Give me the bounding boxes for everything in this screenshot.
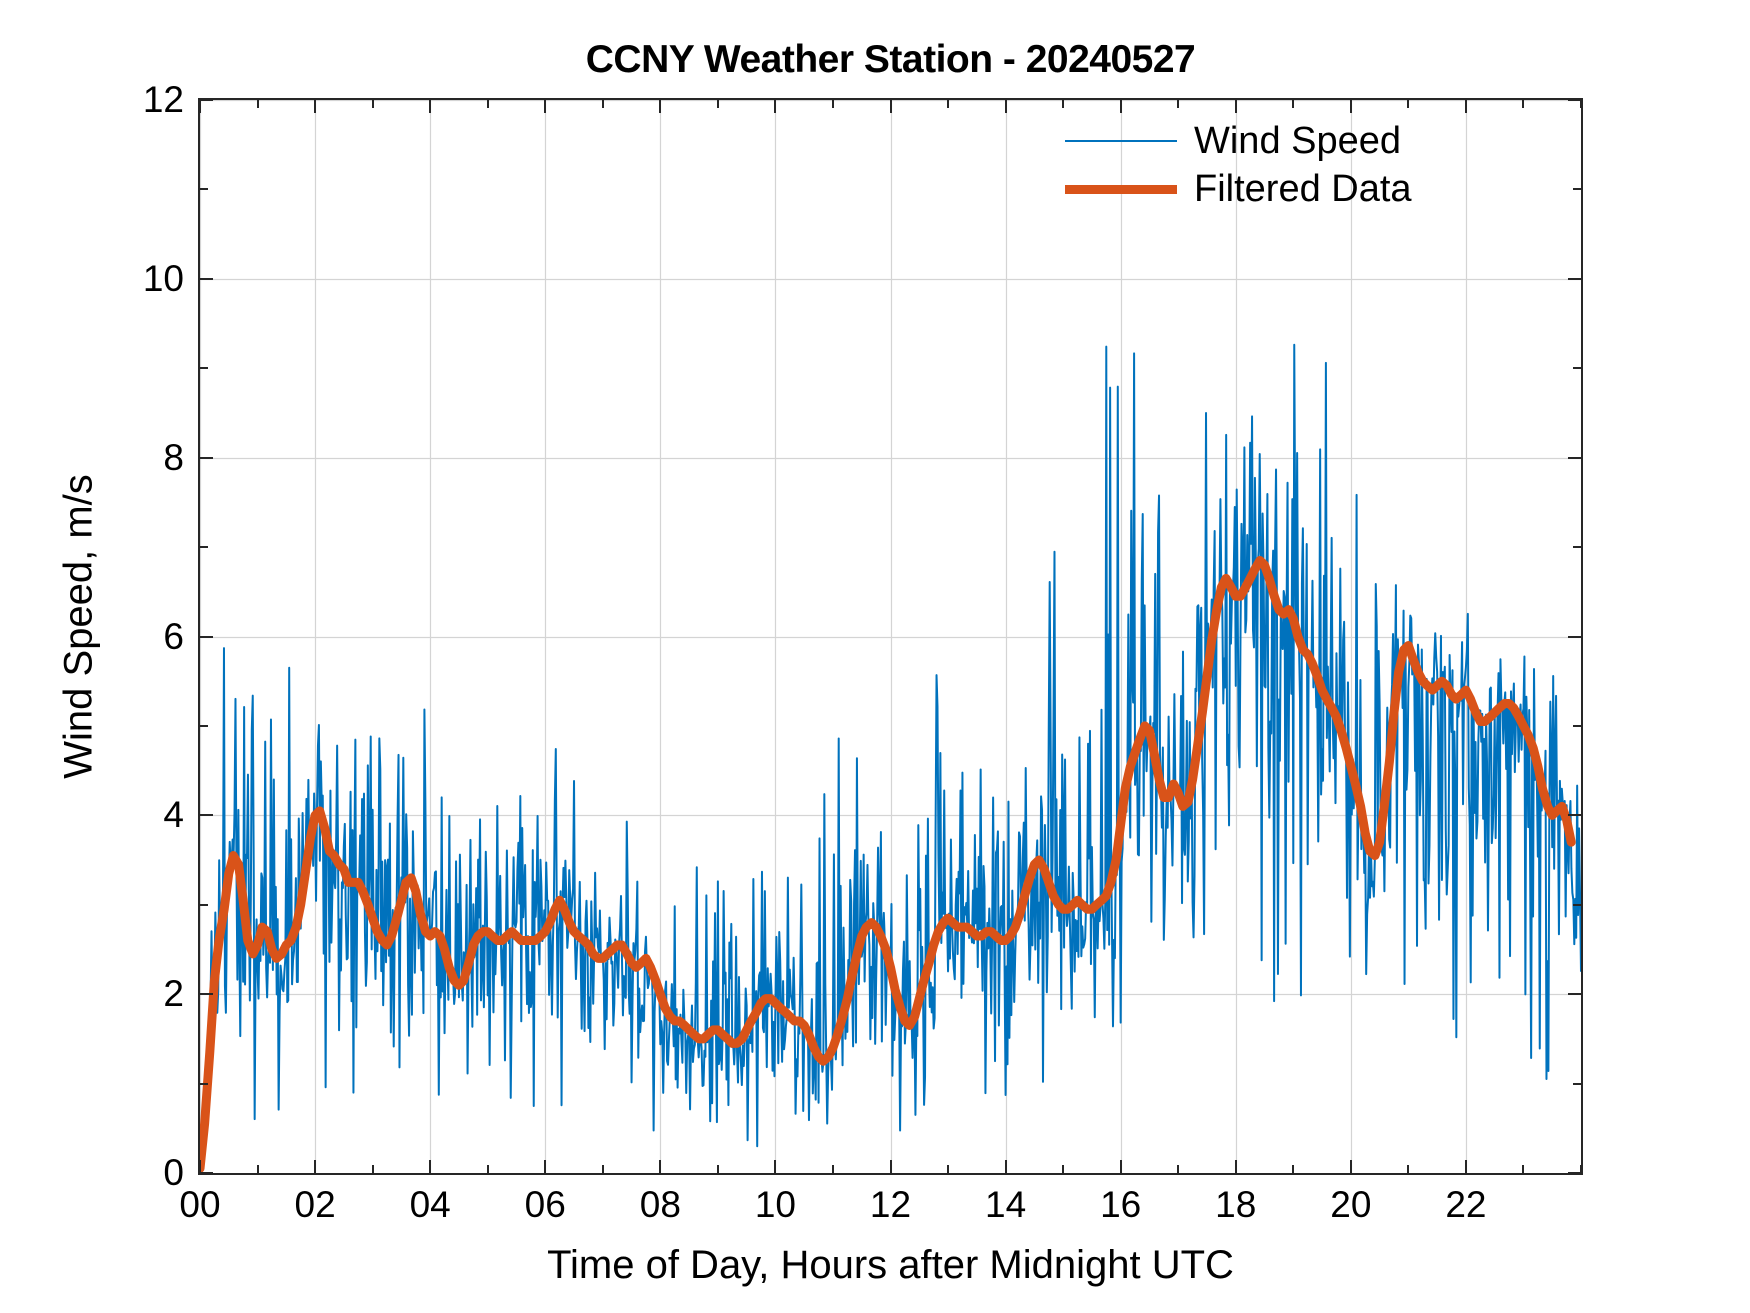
axis-tick — [200, 725, 208, 727]
axis-tick — [1407, 100, 1409, 108]
x-tick-label: 18 — [1215, 1184, 1256, 1226]
axis-tick — [200, 188, 208, 190]
axis-tick — [1062, 1165, 1064, 1173]
legend-label-filtered-data: Filtered Data — [1194, 168, 1412, 211]
axis-tick — [1350, 1160, 1352, 1173]
axis-tick — [200, 636, 213, 638]
axis-tick — [1407, 1165, 1409, 1173]
x-tick-label: 06 — [525, 1184, 566, 1226]
axis-tick — [372, 1165, 374, 1173]
legend: Wind Speed Filtered Data — [1065, 117, 1395, 213]
axis-tick — [1292, 100, 1294, 108]
axis-tick — [1568, 993, 1581, 995]
x-tick-label: 12 — [870, 1184, 911, 1226]
axis-tick — [200, 546, 208, 548]
y-tick-label: 8 — [163, 437, 184, 479]
axis-tick — [1522, 1165, 1524, 1173]
y-axis-label: Wind Speed, m/s — [57, 277, 102, 977]
axis-tick — [200, 367, 208, 369]
x-tick-label: 00 — [179, 1184, 220, 1226]
axis-tick — [1235, 100, 1237, 113]
axis-tick — [200, 457, 213, 459]
axis-tick — [717, 1165, 719, 1173]
y-tick-label: 0 — [163, 1152, 184, 1194]
axis-tick — [774, 1160, 776, 1173]
axis-tick — [1120, 100, 1122, 113]
axis-tick — [200, 904, 208, 906]
x-axis-label: Time of Day, Hours after Midnight UTC — [198, 1243, 1583, 1288]
axis-tick — [200, 993, 213, 995]
legend-label-wind-speed: Wind Speed — [1194, 120, 1401, 163]
axis-tick — [1573, 546, 1581, 548]
axis-tick — [1005, 100, 1007, 113]
axis-tick — [372, 100, 374, 108]
legend-swatch-wind-speed — [1065, 140, 1177, 142]
axis-tick — [659, 100, 661, 113]
axis-tick — [947, 1165, 949, 1173]
x-tick-label: 04 — [410, 1184, 451, 1226]
axis-tick — [544, 100, 546, 113]
x-tick-label: 08 — [640, 1184, 681, 1226]
series-wind-speed — [200, 345, 1581, 1169]
x-tick-label: 16 — [1100, 1184, 1141, 1226]
x-tick-label: 20 — [1330, 1184, 1371, 1226]
axis-tick — [200, 278, 213, 280]
axis-tick — [1580, 100, 1582, 108]
axis-tick — [1235, 1160, 1237, 1173]
axis-tick — [1568, 1172, 1581, 1174]
y-tick-label: 6 — [163, 616, 184, 658]
axis-tick — [832, 100, 834, 108]
y-tick-label: 12 — [143, 79, 184, 121]
axis-tick — [1568, 814, 1581, 816]
axis-tick — [602, 1165, 604, 1173]
axis-tick — [200, 1083, 208, 1085]
axis-tick — [487, 1165, 489, 1173]
axis-tick — [1005, 1160, 1007, 1173]
chart-figure: CCNY Weather Station - 20240527 00020406… — [0, 0, 1750, 1313]
y-tick-label: 2 — [163, 973, 184, 1015]
axis-tick — [602, 100, 604, 108]
axis-tick — [1573, 904, 1581, 906]
x-tick-label: 10 — [755, 1184, 796, 1226]
axis-tick — [1465, 100, 1467, 113]
plot-inner — [200, 100, 1581, 1173]
axis-tick — [200, 1172, 213, 1174]
axis-tick — [1177, 100, 1179, 108]
axis-tick — [200, 99, 213, 101]
axis-tick — [544, 1160, 546, 1173]
axis-tick — [774, 100, 776, 113]
y-tick-label: 4 — [163, 794, 184, 836]
axis-tick — [1568, 636, 1581, 638]
axis-tick — [200, 814, 213, 816]
axis-tick — [257, 1165, 259, 1173]
axis-tick — [1568, 457, 1581, 459]
axis-tick — [1522, 100, 1524, 108]
axis-tick — [659, 1160, 661, 1173]
axis-tick — [1573, 725, 1581, 727]
plot-area — [198, 98, 1583, 1175]
axis-tick — [429, 100, 431, 113]
axis-tick — [1568, 278, 1581, 280]
axis-tick — [1568, 99, 1581, 101]
axis-tick — [1120, 1160, 1122, 1173]
x-tick-label: 02 — [295, 1184, 336, 1226]
axis-tick — [257, 100, 259, 108]
axis-tick — [890, 100, 892, 113]
axis-tick — [1573, 367, 1581, 369]
axis-tick — [890, 1160, 892, 1173]
axis-tick — [199, 100, 201, 113]
legend-item-filtered-data: Filtered Data — [1065, 165, 1412, 213]
y-tick-label: 10 — [143, 258, 184, 300]
axis-tick — [1177, 1165, 1179, 1173]
axis-tick — [1062, 100, 1064, 108]
x-tick-label: 14 — [985, 1184, 1026, 1226]
axis-tick — [429, 1160, 431, 1173]
series-canvas — [200, 100, 1581, 1173]
legend-item-wind-speed: Wind Speed — [1065, 117, 1401, 165]
axis-tick — [1573, 188, 1581, 190]
axis-tick — [487, 100, 489, 108]
axis-tick — [832, 1165, 834, 1173]
page-title: CCNY Weather Station - 20240527 — [198, 38, 1583, 82]
x-tick-label: 22 — [1445, 1184, 1486, 1226]
axis-tick — [717, 100, 719, 108]
axis-tick — [314, 100, 316, 113]
axis-tick — [1573, 1083, 1581, 1085]
axis-tick — [1292, 1165, 1294, 1173]
axis-tick — [947, 100, 949, 108]
legend-swatch-filtered-data — [1065, 185, 1177, 194]
axis-tick — [1465, 1160, 1467, 1173]
axis-tick — [314, 1160, 316, 1173]
axis-tick — [1350, 100, 1352, 113]
